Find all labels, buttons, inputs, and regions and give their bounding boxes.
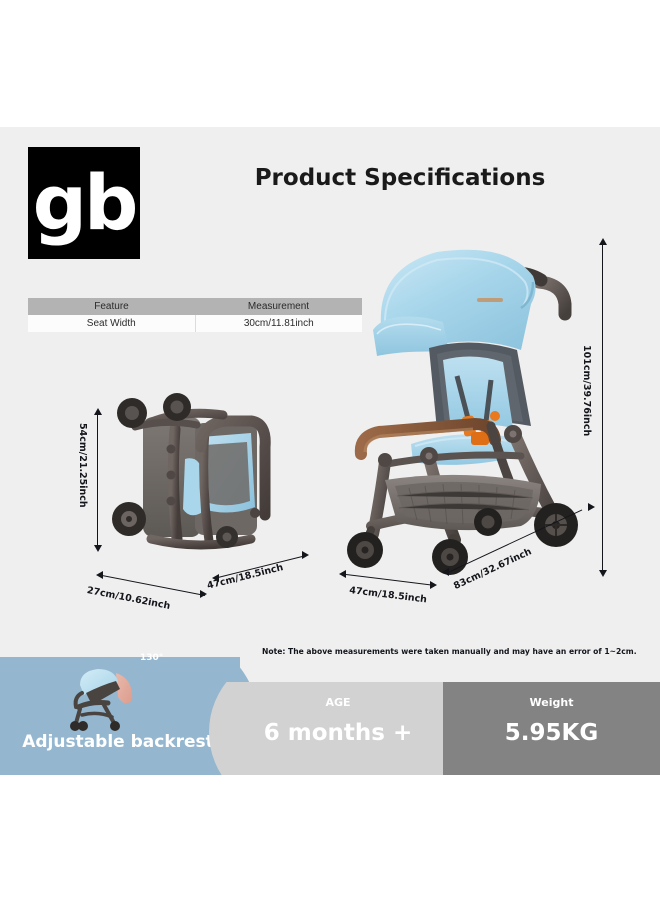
backrest-feature-label: Adjustable backrest [8,732,228,752]
column-header-feature: Feature [28,298,195,315]
age-value: 6 months + [233,720,443,746]
open-height-label: 101cm/39.76inch [581,345,592,436]
recline-angle-label: 130° [140,653,163,663]
open-height-arrow [602,245,603,570]
folded-height-arrow-tip-top [94,408,102,415]
age-panel: AGE 6 months + [233,682,443,775]
table-header-row: Feature Measurement [28,298,362,315]
page-title: Product Specifications [180,165,620,191]
measurement-note: Note: The above measurements were taken … [262,647,637,656]
weight-value: 5.95KG [443,720,660,746]
folded-depth-label: 27cm/10.62inch [86,585,171,612]
folded-height-arrow [97,415,98,545]
open-length-arrow-tip-left [442,568,449,576]
weight-panel: Weight 5.95KG [443,682,660,775]
product-spec-page: gb Product Specifications Feature Measur… [0,0,660,900]
folded-width-arrow-tip-right [302,551,309,559]
age-caption: AGE [233,696,443,709]
folded-stroller-image [105,389,295,569]
open-width-arrow [346,574,435,586]
open-height-arrow-tip-top [599,238,607,245]
gb-logo: gb [28,147,140,259]
open-width-label: 47cm/18.5inch [349,585,428,605]
specifications-table: Feature Measurement Seat Width 30cm/11.8… [28,298,362,332]
folded-depth-arrow-tip-right [200,590,207,598]
recline-stroller-icon [64,667,150,733]
cell-feature-name: Seat Width [28,315,195,332]
open-width-arrow-tip-right [430,581,437,589]
open-height-arrow-tip-bottom [599,570,607,577]
open-length-arrow-tip-right [588,503,595,511]
spec-canvas: gb Product Specifications Feature Measur… [0,127,660,775]
weight-caption: Weight [443,696,660,709]
folded-height-label: 54cm/21.25inch [77,423,88,508]
folded-depth-arrow-tip-left [96,571,103,579]
folded-height-arrow-tip-bottom [94,545,102,552]
gb-logo-text: gb [28,147,140,259]
table-row: Seat Width 30cm/11.81inch [28,315,362,332]
open-width-arrow-tip-left [339,570,346,578]
